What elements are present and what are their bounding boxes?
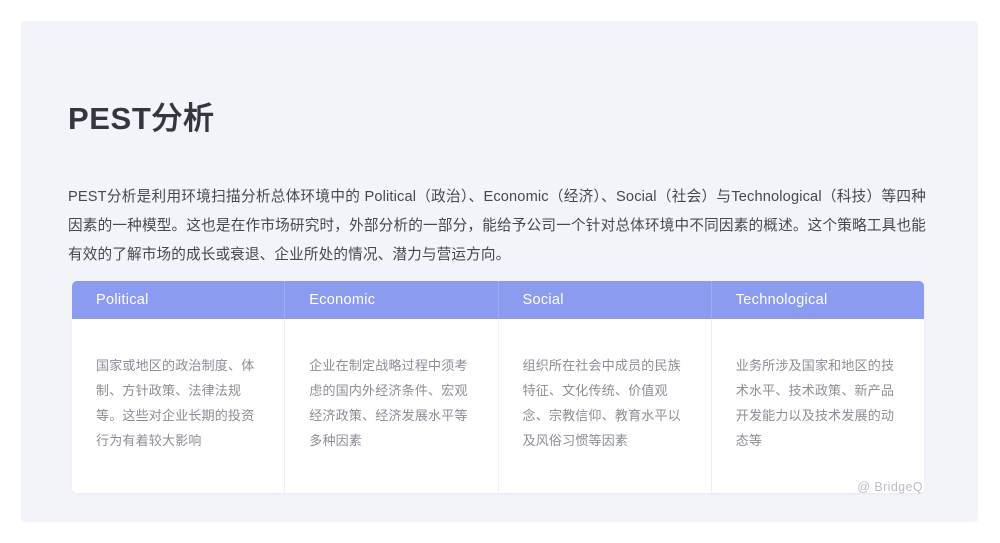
pest-analysis-table: Political Economic Social Technological … [72,281,924,493]
watermark-label: @ BridgeQ [857,480,923,494]
table-cell-technological: 业务所涉及国家和地区的技术水平、技术政策、新产品开发能力以及技术发展的动态等 [711,319,924,493]
table-header-political: Political [72,281,284,319]
table-cell-political: 国家或地区的政治制度、体制、方针政策、法律法规等。这些对企业长期的投资行为有着较… [72,319,284,493]
table-header-economic: Economic [284,281,497,319]
page-title: PEST分析 [68,93,215,138]
slide-card: PEST分析 PEST分析是利用环境扫描分析总体环境中的 Political（政… [21,21,978,522]
table-header-row: Political Economic Social Technological [72,281,924,319]
table-row: 国家或地区的政治制度、体制、方针政策、法律法规等。这些对企业长期的投资行为有着较… [72,319,924,493]
table-cell-economic: 企业在制定战略过程中须考虑的国内外经济条件、宏观经济政策、经济发展水平等多种因素 [284,319,497,493]
table-cell-social: 组织所在社会中成员的民族特征、文化传统、价值观念、宗教信仰、教育水平以及风俗习惯… [498,319,711,493]
table-header-technological: Technological [711,281,924,319]
intro-paragraph: PEST分析是利用环境扫描分析总体环境中的 Political（政治）、Econ… [68,183,926,270]
table-header-social: Social [498,281,711,319]
